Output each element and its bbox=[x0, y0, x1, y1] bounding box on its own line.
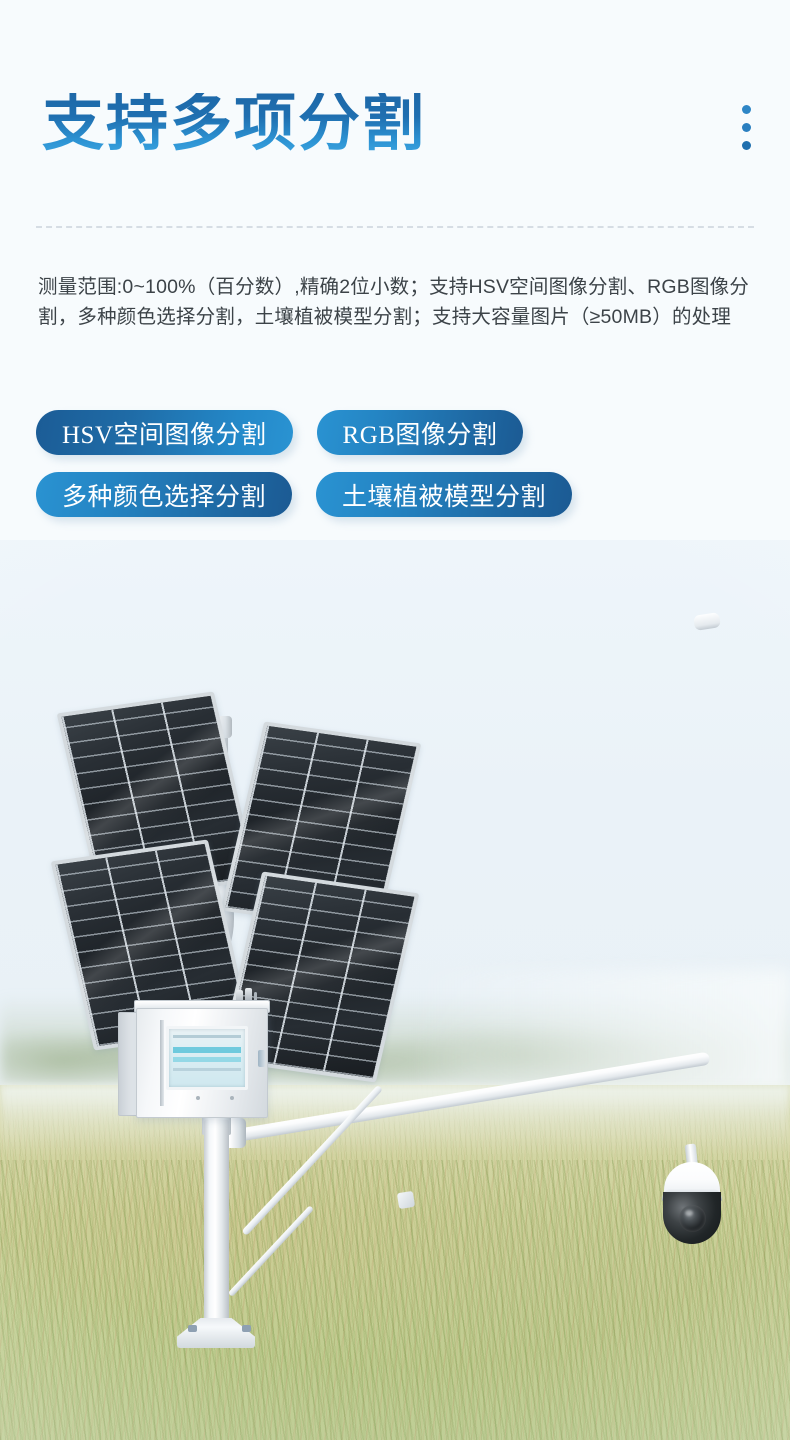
lcd-readout bbox=[173, 1035, 241, 1081]
feature-pill-rgb[interactable]: RGB图像分割 bbox=[317, 410, 524, 455]
boom-brace-joint bbox=[397, 1191, 415, 1209]
kebab-dot-3 bbox=[742, 141, 751, 150]
base-bolt-left bbox=[188, 1325, 197, 1332]
enclosure-latch bbox=[258, 1050, 265, 1067]
feature-pill-group: HSV空间图像分割 RGB图像分割 多种颜色选择分割 土壤植被模型分割 bbox=[36, 410, 756, 534]
feature-pill-hsv[interactable]: HSV空间图像分割 bbox=[36, 410, 293, 455]
feature-pill-soil-vegetation[interactable]: 土壤植被模型分割 bbox=[316, 472, 572, 517]
page-title: 支持多项分割 bbox=[42, 93, 426, 155]
feature-pill-row-1: HSV空间图像分割 RGB图像分割 bbox=[36, 410, 756, 455]
enclosure-screw-2 bbox=[230, 1096, 234, 1100]
camera-lens-icon bbox=[679, 1205, 706, 1232]
enclosure-screw-1 bbox=[196, 1096, 200, 1100]
enclosure-hinge bbox=[160, 1020, 164, 1106]
kebab-dot-2 bbox=[742, 123, 751, 132]
kebab-menu-icon[interactable] bbox=[740, 105, 752, 159]
header-section: 支持多项分割 bbox=[0, 0, 790, 250]
header-divider bbox=[36, 226, 754, 228]
enclosure-display-window bbox=[166, 1026, 248, 1090]
base-bolt-right bbox=[242, 1325, 251, 1332]
feature-pill-multicolor[interactable]: 多种颜色选择分割 bbox=[36, 472, 292, 517]
description-text: 测量范围:0~100%（百分数）,精确2位小数；支持HSV空间图像分割、RGB图… bbox=[38, 272, 754, 332]
feature-pill-row-2: 多种颜色选择分割 土壤植被模型分割 bbox=[36, 472, 756, 517]
boom-lower-brace bbox=[228, 1205, 314, 1297]
product-photo bbox=[0, 540, 790, 1440]
page-root: 支持多项分割 测量范围:0~100%（百分数）,精确2位小数；支持HSV空间图像… bbox=[0, 0, 790, 1440]
boom-end-cap bbox=[693, 612, 721, 631]
mast-lower-section bbox=[204, 1120, 229, 1335]
kebab-dot-1 bbox=[742, 105, 751, 114]
